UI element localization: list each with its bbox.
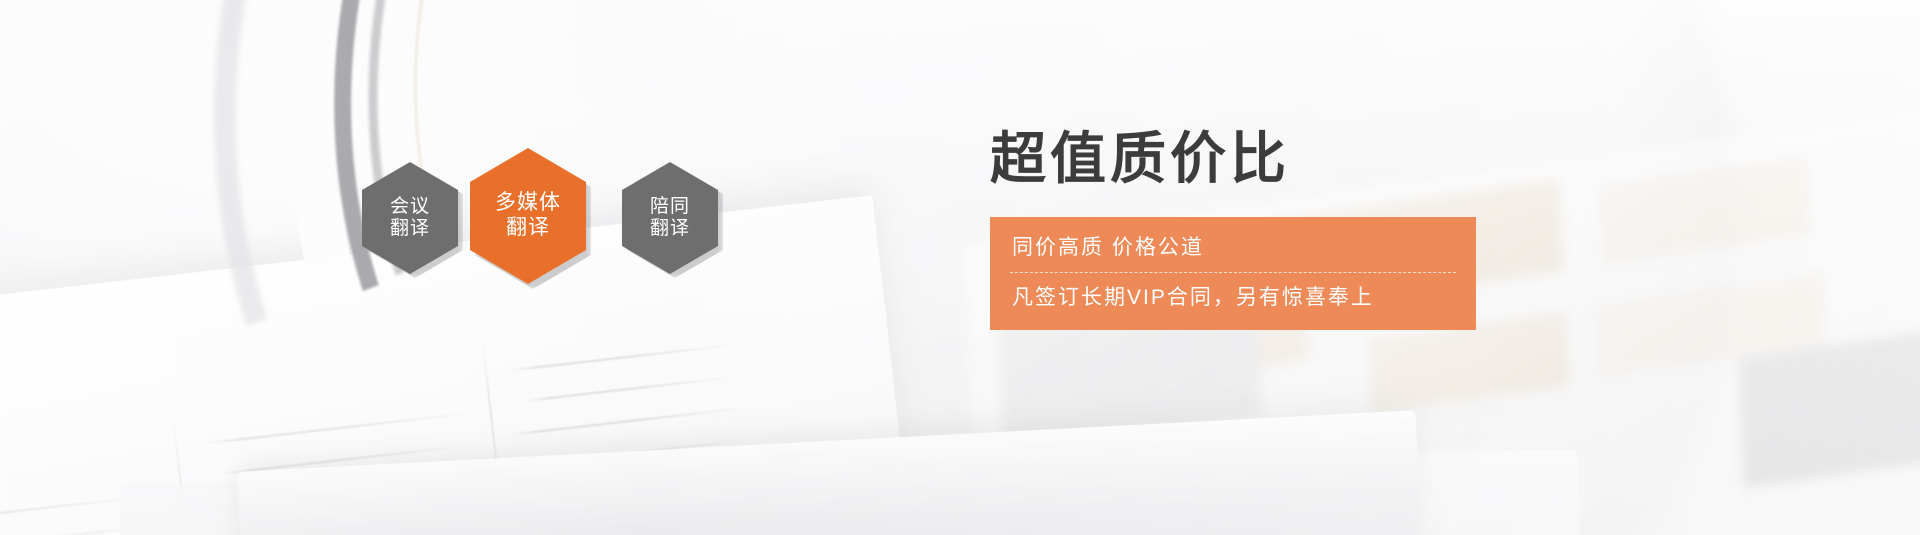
- promo-line-2: 凡签订长期VIP合同，另有惊喜奉上: [990, 282, 1476, 314]
- hexagon-label-line1: 会议: [390, 196, 430, 218]
- hexagon-label-line2: 翻译: [506, 216, 550, 241]
- promo-divider: [1010, 272, 1456, 273]
- hexagon-label-line2: 翻译: [650, 218, 690, 240]
- promo-line-1: 同价高质 价格公道: [990, 232, 1476, 264]
- banner-headline: 超值质价比: [990, 128, 1550, 191]
- service-hexagon-group: 会议 翻译 多媒体 翻译 陪同 翻译: [360, 148, 720, 288]
- hexagon-label-line1: 陪同: [650, 196, 690, 218]
- hexagon-label-line1: 多媒体: [495, 191, 561, 216]
- headline-text-block: 超值质价比 同价高质 价格公道 凡签订长期VIP合同，另有惊喜奉上: [990, 128, 1550, 330]
- promo-box: 同价高质 价格公道 凡签订长期VIP合同，另有惊喜奉上: [990, 217, 1476, 330]
- promotional-banner: 会议 翻译 多媒体 翻译 陪同 翻译 超值质价比 同价高质 价格公道 凡签订长期…: [0, 0, 1920, 535]
- background-photo: [0, 0, 1920, 535]
- hexagon-label-line2: 翻译: [390, 218, 430, 240]
